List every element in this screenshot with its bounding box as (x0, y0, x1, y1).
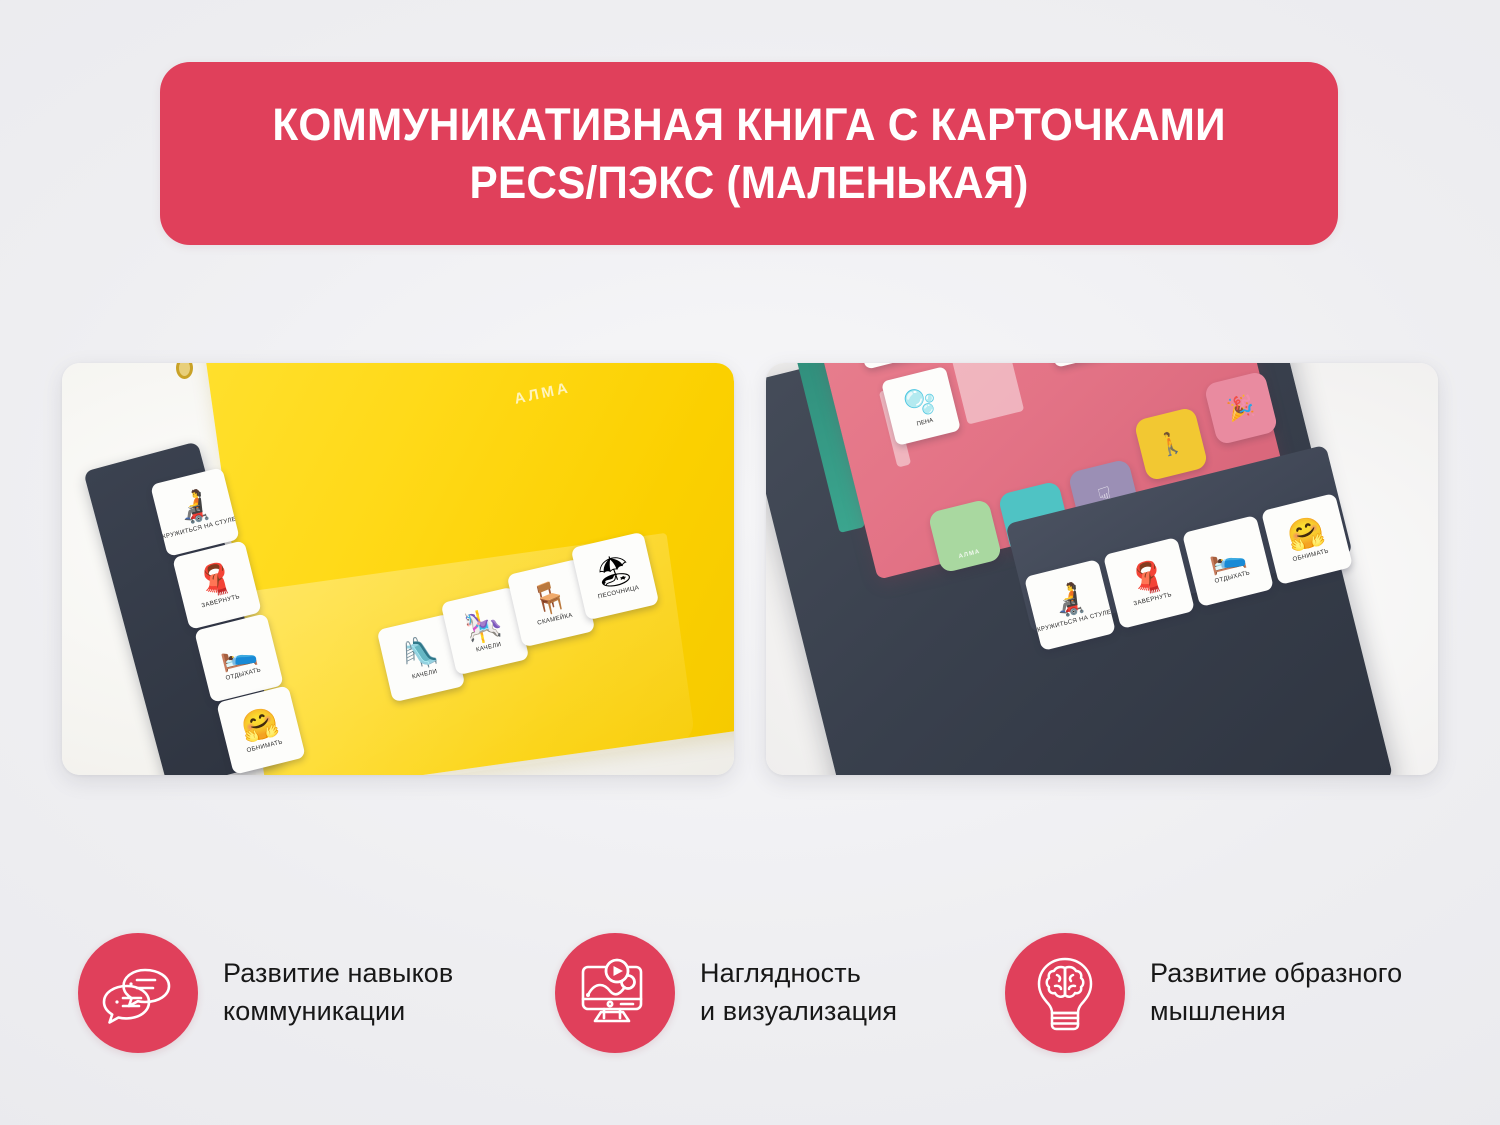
card-pictogram-icon: 🧑‍🦼 (1047, 582, 1091, 620)
feature-label: Наглядность и визуализация (700, 955, 897, 1030)
card-pictogram-icon: 🤗 (238, 707, 282, 745)
card-pictogram-icon: 🪑 (528, 580, 571, 618)
feature-label: Развитие образного мышления (1150, 955, 1402, 1030)
card-pictogram-icon: 🏖 (592, 553, 636, 591)
feature-label: Развитие навыков коммуникации (223, 955, 453, 1030)
feature-list: Развитие навыков коммуникации Нагляднос (0, 920, 1500, 1065)
card-pictogram-icon: 🤗 (1284, 516, 1328, 554)
feature-item-visualization: Наглядность и визуализация (555, 933, 897, 1053)
lightbulb-brain-icon (1005, 933, 1125, 1053)
feature-item-communication: Развитие навыков коммуникации (78, 933, 453, 1053)
product-photo-left[interactable]: АЛМА 🧑‍🦼 КРУЖИТЬСЯ НА СТУЛЕ 🧣 ЗАВЕРНУТЬ … (62, 363, 734, 775)
party-icon: 🎉 (1225, 392, 1258, 424)
card-pictogram-icon: 🧣 (194, 562, 238, 600)
card-pictogram-icon: 🛝 (398, 635, 441, 673)
product-photo-right[interactable]: 🍫 СЛАДОСТИ 🫧 ПЕНА 🧑‍🦼 КРУЖИТЬСЯ НА СТУЛЕ… (766, 363, 1438, 775)
card-pictogram-icon: 🎠 (462, 608, 505, 646)
person-activity-icon: 🚶 (1155, 428, 1188, 460)
card-pictogram-icon: 🫧 (901, 383, 940, 421)
card-pictogram-icon: 🧣 (1126, 560, 1170, 598)
monitor-play-icon (555, 933, 675, 1053)
speech-bubbles-icon (78, 933, 198, 1053)
card-pictogram-icon: 🛌 (216, 635, 260, 673)
feature-item-thinking: Развитие образного мышления (1005, 933, 1402, 1053)
card-pictogram-icon: 🛌 (1205, 538, 1249, 576)
card-pictogram-icon: 🧑‍🦼 (172, 489, 216, 527)
